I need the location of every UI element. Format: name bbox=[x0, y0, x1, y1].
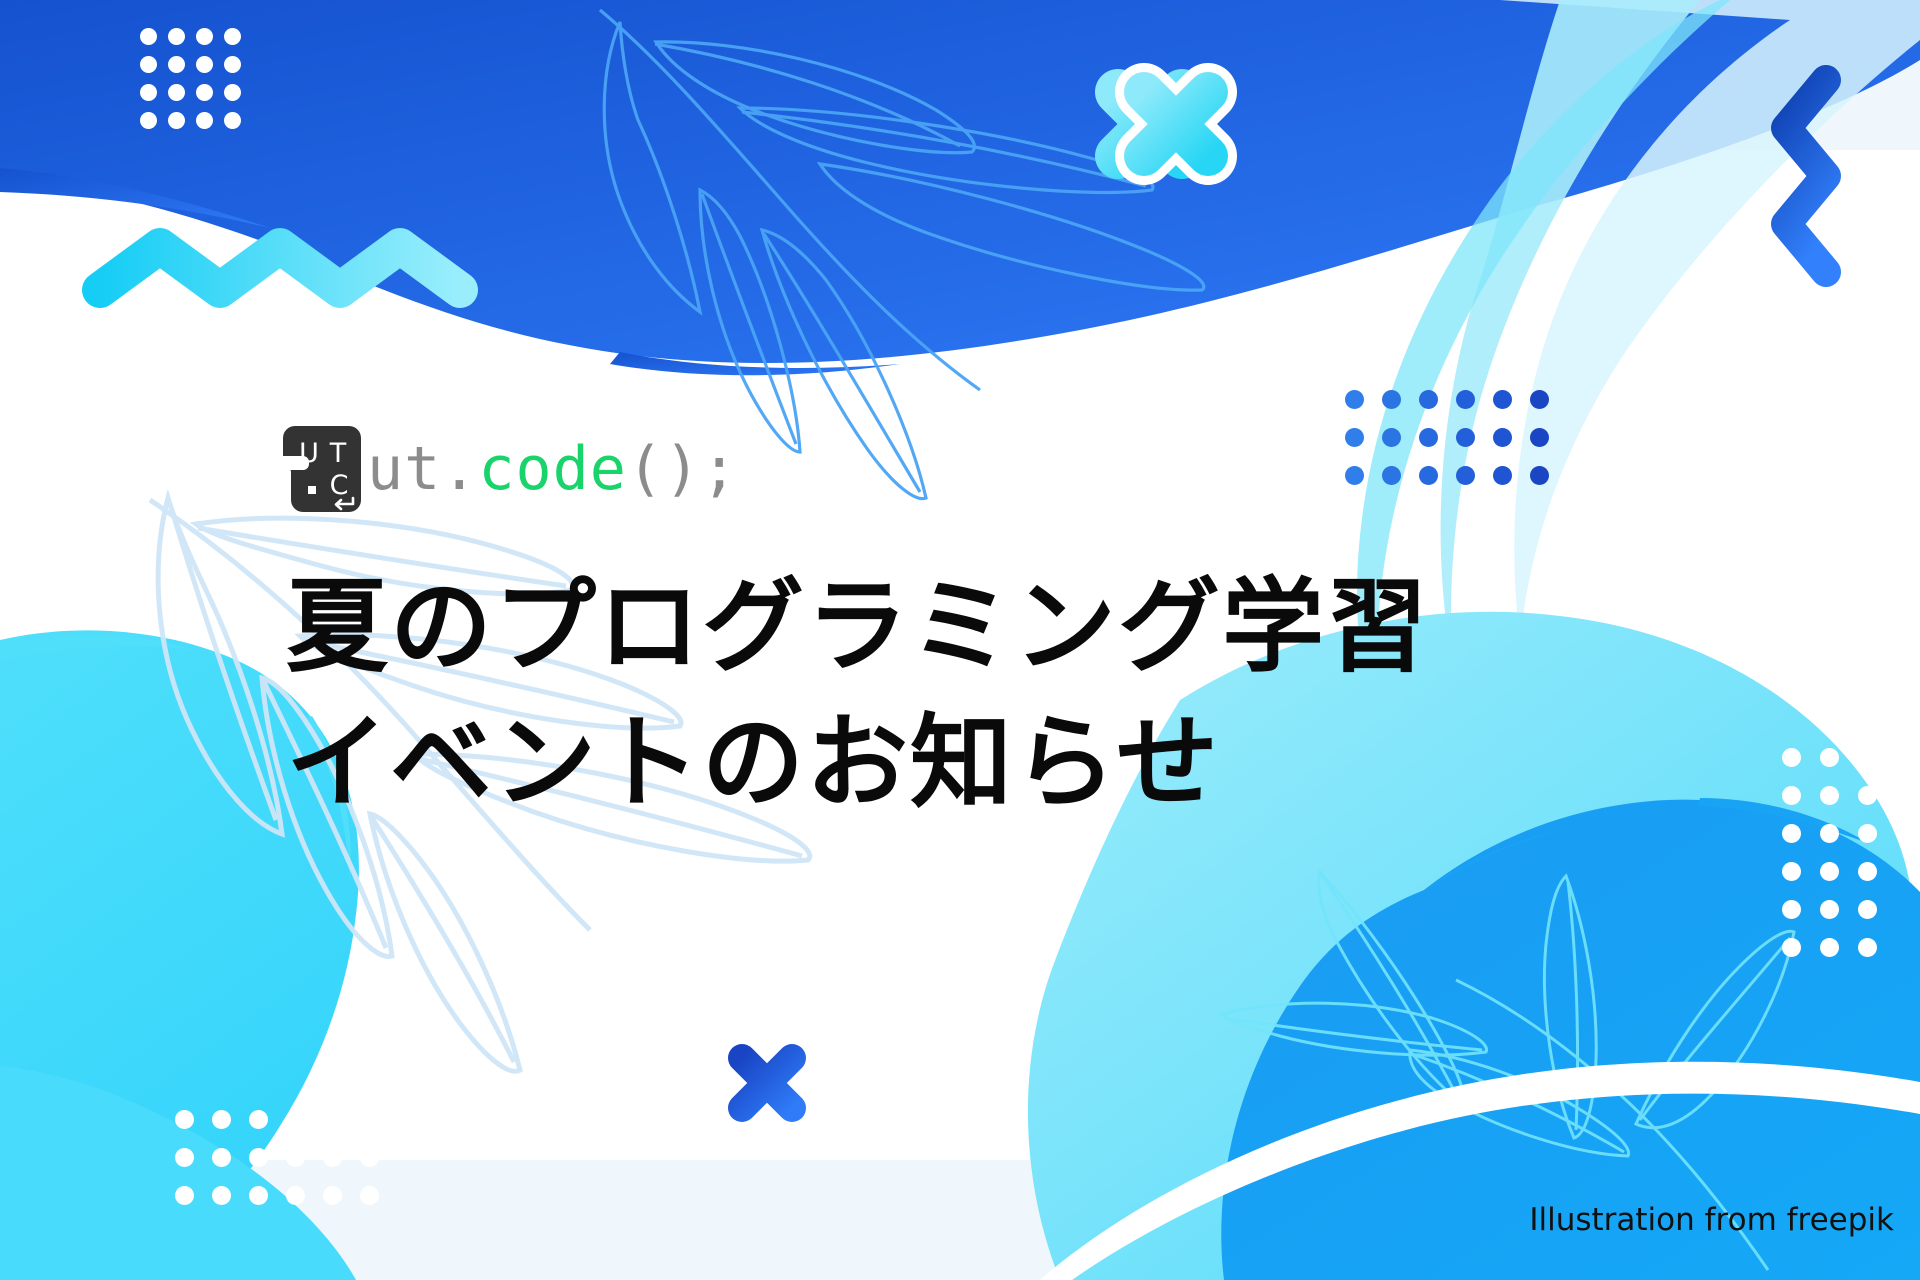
page-title: 夏のプログラミング学習 イベントのお知らせ bbox=[286, 560, 1430, 831]
cross-blue-bottom bbox=[742, 1058, 792, 1108]
wordmark-keyword: code bbox=[478, 434, 627, 504]
brand-wordmark: ut.code(); bbox=[367, 439, 738, 499]
dot-grid-mid-right bbox=[1345, 390, 1567, 504]
headline-line-1: 夏のプログラミング学習 bbox=[286, 560, 1430, 696]
headline-line-2: イベントのお知らせ bbox=[286, 696, 1430, 832]
wordmark-prefix: ut. bbox=[367, 434, 478, 504]
svg-text:T: T bbox=[329, 438, 347, 469]
dot-grid-top-left bbox=[140, 28, 252, 140]
utcode-logo-icon: U T C bbox=[283, 426, 361, 512]
dot-grid-bottom-left bbox=[175, 1110, 397, 1224]
wordmark-suffix: (); bbox=[627, 434, 738, 504]
poster-canvas: U T C ut.code(); 夏のプログラミング学習 イベントのお知らせ I… bbox=[0, 0, 1920, 1280]
cross-double-top bbox=[1118, 92, 1208, 156]
illustration-credit: Illustration from freepik bbox=[1529, 1202, 1894, 1238]
brand-lockup: U T C ut.code(); bbox=[283, 426, 738, 512]
dot-grid-right-edge bbox=[1782, 748, 1896, 976]
svg-text:U: U bbox=[299, 438, 319, 469]
svg-text:C: C bbox=[330, 470, 349, 501]
